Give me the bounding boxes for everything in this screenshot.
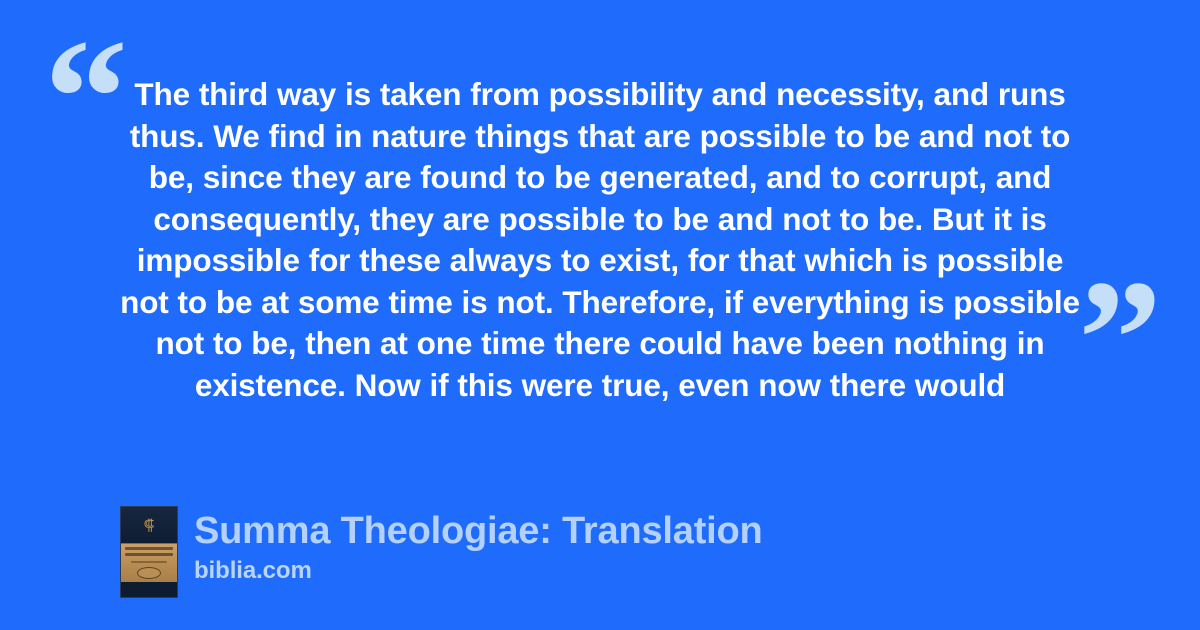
source-title: Summa Theologiae: Translation	[194, 508, 763, 554]
book-cover-bottom-panel	[121, 582, 177, 597]
quote-card: “ The third way is taken from possibilit…	[0, 0, 1200, 630]
book-cover-band-text-line	[125, 553, 173, 556]
book-cover-seal-icon	[137, 567, 161, 579]
source-site-label: biblia.com	[194, 556, 763, 586]
book-cover-thumbnail: ⸿	[120, 506, 178, 598]
book-cover-emblem-icon: ⸿	[143, 516, 156, 535]
book-cover-band-text-line	[131, 561, 167, 563]
book-cover-title-band	[121, 543, 177, 584]
closing-quote-icon: ”	[1078, 255, 1160, 423]
quote-text: The third way is taken from possibility …	[110, 74, 1090, 406]
book-cover-band-text-line	[125, 547, 173, 550]
attribution-footer: ⸿ Summa Theologiae: Translation biblia.c…	[120, 506, 763, 598]
attribution-text-block: Summa Theologiae: Translation biblia.com	[194, 506, 763, 586]
